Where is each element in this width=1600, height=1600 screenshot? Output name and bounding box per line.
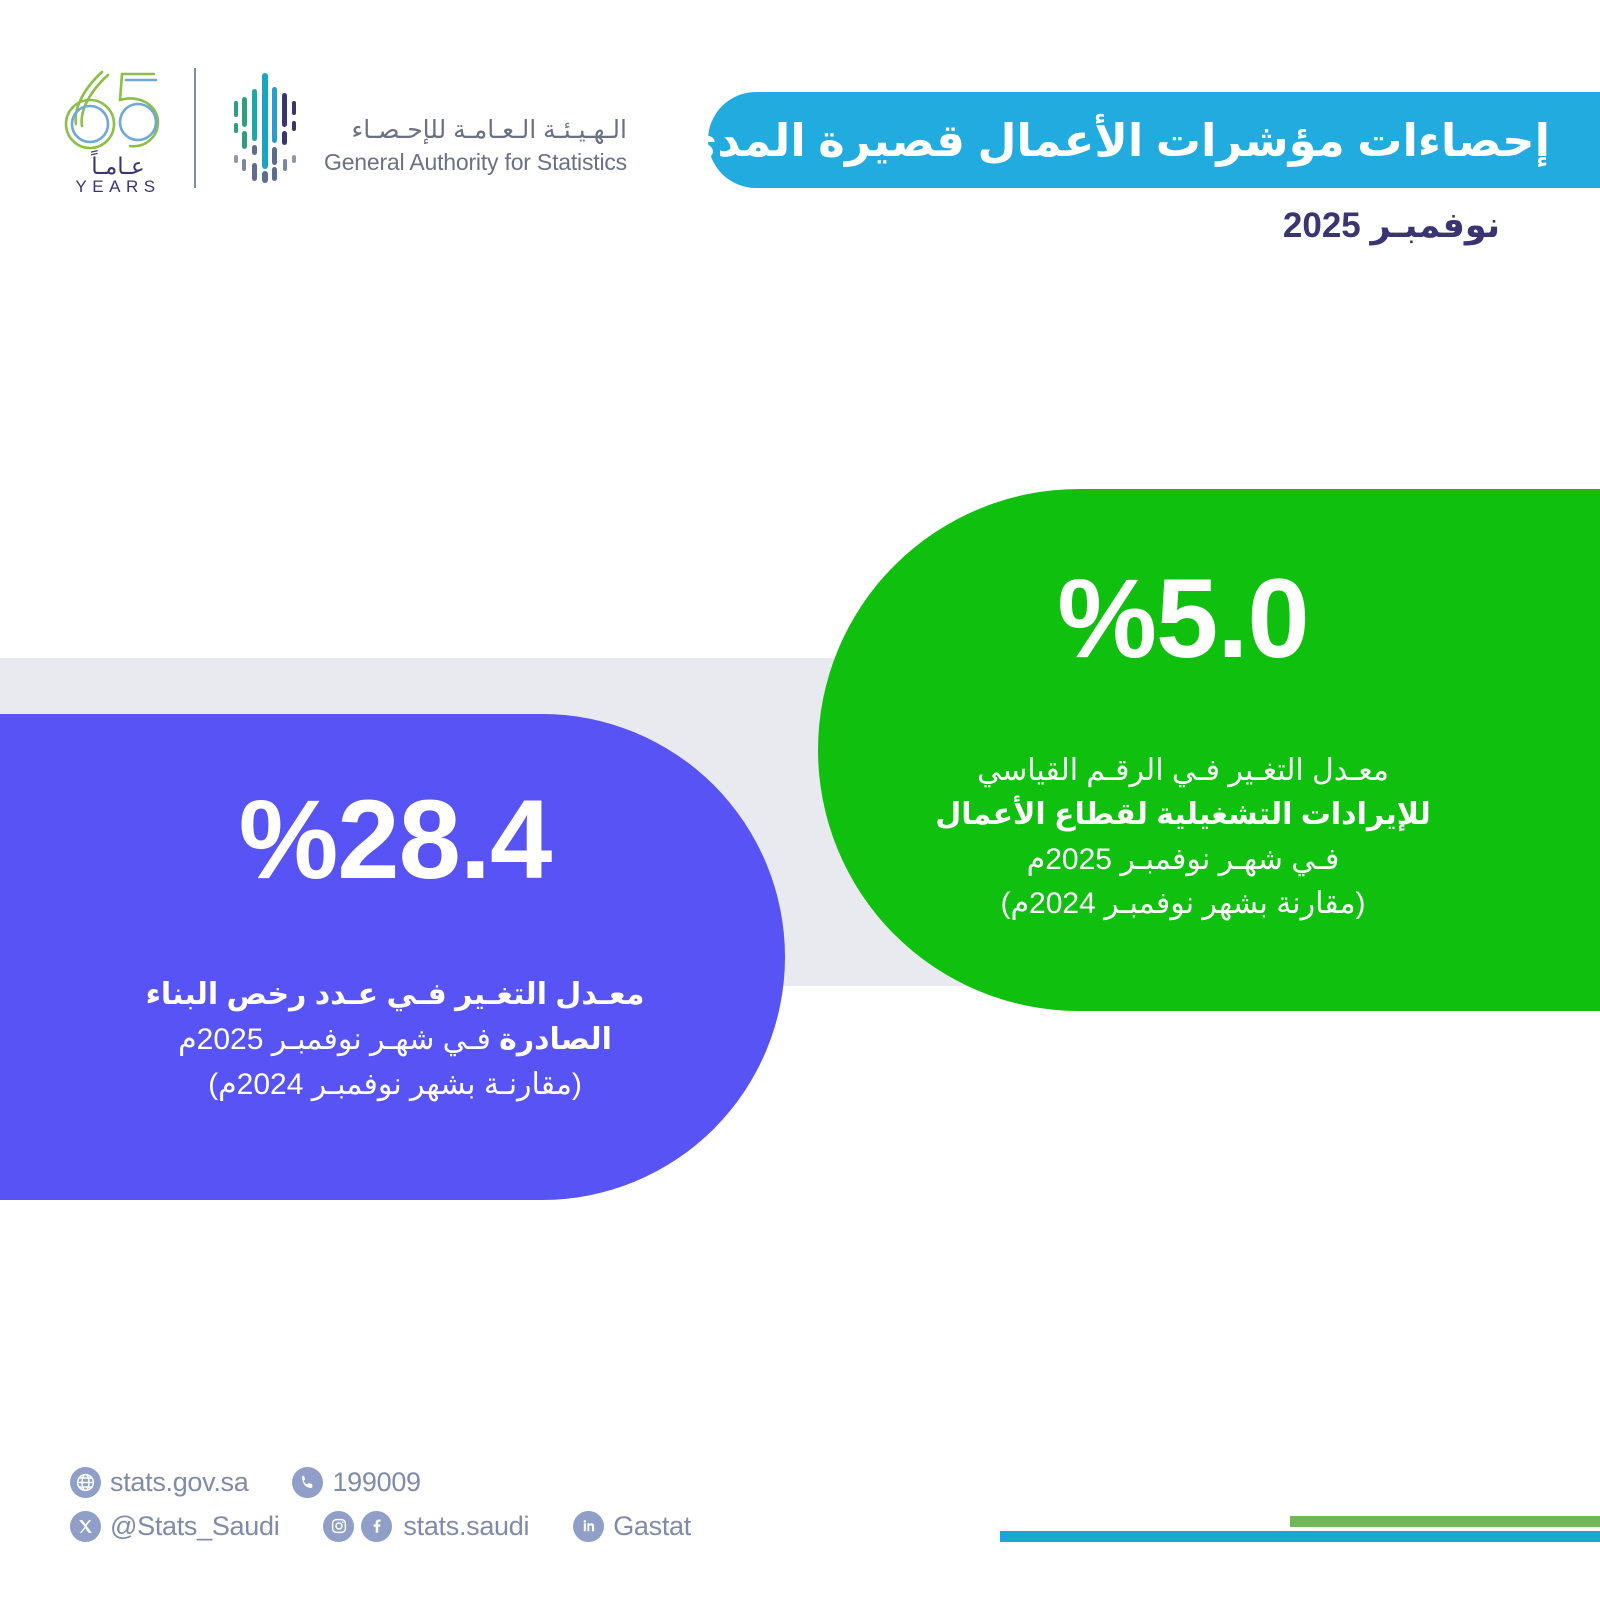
65-years-anniversary-logo: عـامـاً YEARS	[62, 62, 174, 194]
green-desc-line-2: للإيرادات التشغيلية لقطاع الأعمال	[935, 793, 1431, 837]
green-desc-line-4: (مقارنة بشهر نوفمبـر 2024م)	[935, 882, 1431, 926]
instagram-icon	[323, 1511, 354, 1542]
purple-desc-line-2-bold: الصادرة	[499, 1023, 612, 1056]
purple-desc-line-3: (مقارنـة بشهر نوفمبـر 2024م)	[146, 1062, 645, 1107]
svg-text:YEARS: YEARS	[75, 177, 160, 194]
purple-desc-line-2-rest: فـي شهـر نوفمبـر 2025م	[178, 1023, 499, 1056]
phone-icon	[292, 1467, 323, 1498]
purple-desc-line-1: معـدل التغـير فـي عـدد رخص البناء	[146, 972, 645, 1017]
footer-linkedin[interactable]: Gastat	[573, 1511, 691, 1542]
footer-website[interactable]: stats.gov.sa	[70, 1467, 248, 1498]
report-date: نوفمبـر 2025	[1283, 208, 1500, 243]
green-desc-line-1: معـدل التغـير فـي الرقـم القياسي	[935, 749, 1431, 793]
footer-row-1: stats.gov.sa 199009	[70, 1460, 691, 1504]
globe-icon	[70, 1467, 101, 1498]
infographic-canvas: عـامـاً YEARS	[0, 0, 1600, 1600]
x-twitter-icon	[70, 1511, 101, 1542]
footer-linkedin-label: Gastat	[613, 1511, 691, 1542]
footer-twitter-label: @Stats_Saudi	[110, 1511, 279, 1542]
stat-description-building-permits: معـدل التغـير فـي عـدد رخص البناء الصادر…	[146, 972, 645, 1107]
anniversary-mark-icon: عـامـاً YEARS	[62, 62, 174, 194]
facebook-icon	[361, 1511, 392, 1542]
logo-divider	[194, 68, 196, 188]
purple-desc-line-2: الصادرة فـي شهـر نوفمبـر 2025م	[146, 1017, 645, 1062]
social-icon-pair	[323, 1511, 403, 1542]
gastat-bars-icon	[222, 67, 308, 189]
stat-card-operating-revenue: %5.0 معـدل التغـير فـي الرقـم القياسي لل…	[818, 489, 1600, 1011]
gastat-name-arabic: الـهـيـئـة الـعـامـة للإحـصـاء	[324, 116, 627, 145]
footer-phone-label: 199009	[332, 1467, 420, 1498]
svg-text:عـامـاً: عـامـاً	[91, 150, 145, 179]
stat-description-operating-revenue: معـدل التغـير فـي الرقـم القياسي للإيراد…	[935, 749, 1431, 927]
stat-card-building-permits: %28.4 معـدل التغـير فـي عـدد رخص البناء …	[0, 714, 785, 1200]
title-banner: إحصاءات مؤشرات الأعمال قصيرة المدى	[708, 92, 1600, 188]
gastat-name-english: General Authority for Statistics	[324, 148, 627, 177]
gastat-logo-block: عـامـاً YEARS	[62, 58, 582, 198]
stat-value-building-permits: %28.4	[239, 784, 552, 896]
footer-phone[interactable]: 199009	[292, 1467, 420, 1498]
green-desc-line-3: فـي شهـر نوفمبـر 2025م	[935, 838, 1431, 882]
gastat-symbol-icon	[222, 67, 308, 189]
linkedin-icon	[573, 1511, 604, 1542]
gastat-wordmark: الـهـيـئـة الـعـامـة للإحـصـاء General A…	[324, 68, 627, 188]
page-title: إحصاءات مؤشرات الأعمال قصيرة المدى	[676, 118, 1550, 163]
footer-social-label: stats.saudi	[403, 1511, 529, 1542]
footer-row-2: @Stats_Saudi	[70, 1504, 691, 1548]
footer-decorative-line-green	[1290, 1516, 1600, 1527]
stat-value-operating-revenue: %5.0	[1057, 563, 1308, 675]
footer-website-label: stats.gov.sa	[110, 1467, 248, 1498]
footer-contacts: stats.gov.sa 199009 @Stats_Saudi	[70, 1460, 691, 1548]
footer-decorative-line-blue	[1000, 1531, 1600, 1542]
footer-social[interactable]: stats.saudi	[323, 1511, 529, 1542]
footer-twitter[interactable]: @Stats_Saudi	[70, 1511, 279, 1542]
